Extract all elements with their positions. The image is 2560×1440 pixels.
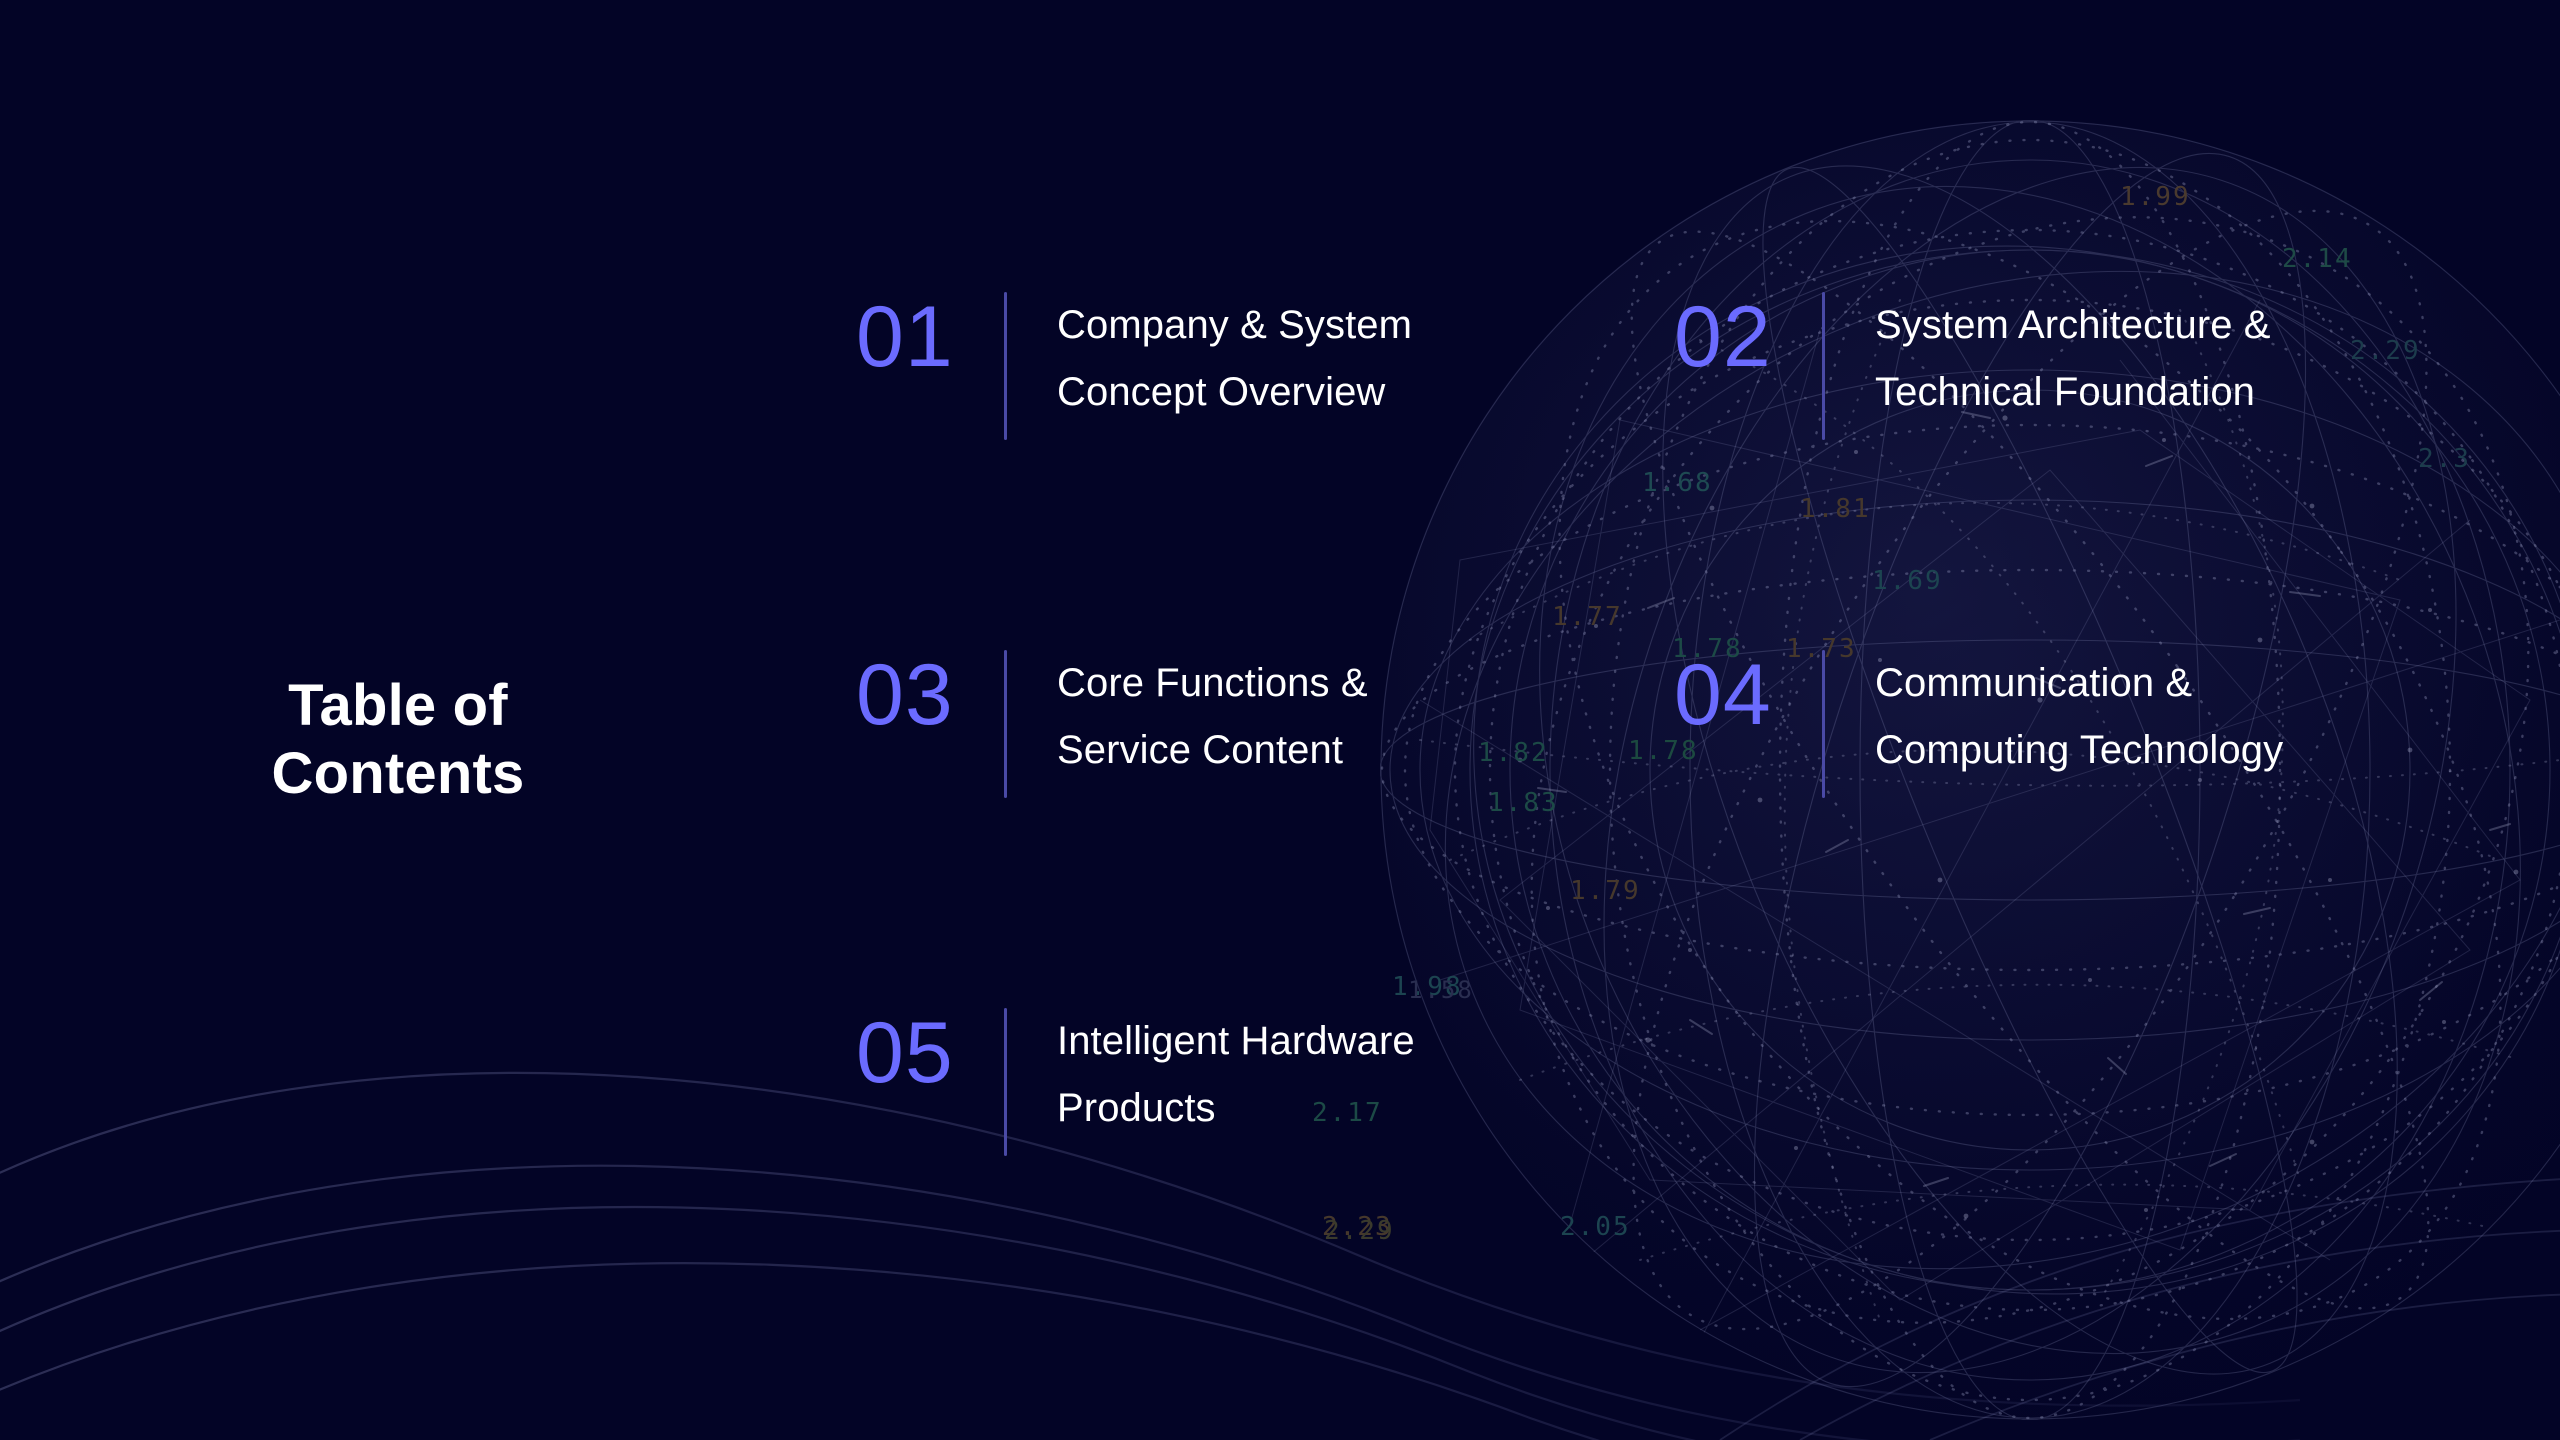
- toc-item-title-line-1: Intelligent Hardware: [1057, 1008, 1415, 1075]
- toc-slide: 1.992.142.292.31.681.811.691.771.781.731…: [0, 0, 2560, 1440]
- toc-item-title: Intelligent Hardware Products: [1057, 1006, 1415, 1142]
- toc-item-title-line-1: Communication &: [1875, 650, 2283, 717]
- toc-item-divider: [1004, 1008, 1007, 1156]
- toc-item-number: 03: [856, 648, 1004, 738]
- toc-item-number: 01: [856, 290, 1004, 380]
- background-float-number: 2.29: [1324, 1216, 1395, 1246]
- page-title-line-1: Table of: [188, 672, 608, 740]
- toc-item-divider: [1822, 292, 1825, 440]
- toc-item-title: Communication & Computing Technology: [1875, 648, 2283, 784]
- toc-item-number: 02: [1674, 290, 1822, 380]
- toc-row-1: 01 Company & System Concept Overview 02 …: [856, 290, 2476, 440]
- page-title: Table of Contents: [188, 672, 608, 809]
- toc-item-03[interactable]: 03 Core Functions & Service Content: [856, 648, 1674, 798]
- toc-item-02[interactable]: 02 System Architecture & Technical Found…: [1674, 290, 2474, 440]
- toc-item-divider: [1004, 292, 1007, 440]
- toc-item-title-line-2: Products: [1057, 1075, 1415, 1142]
- toc-item-title-line-1: System Architecture &: [1875, 292, 2271, 359]
- toc-item-title-line-2: Concept Overview: [1057, 359, 1412, 426]
- toc-item-number: 05: [856, 1006, 1004, 1096]
- toc-row-3: 05 Intelligent Hardware Products: [856, 1006, 2476, 1156]
- toc-item-divider: [1822, 650, 1825, 798]
- toc-item-title: Company & System Concept Overview: [1057, 290, 1412, 426]
- toc-items: 01 Company & System Concept Overview 02 …: [856, 290, 2476, 1156]
- page-title-line-2: Contents: [188, 740, 608, 808]
- background-float-number: 1.99: [2120, 182, 2191, 212]
- toc-row-2: 03 Core Functions & Service Content 04 C…: [856, 648, 2476, 798]
- toc-item-title-line-2: Technical Foundation: [1875, 359, 2271, 426]
- toc-item-05[interactable]: 05 Intelligent Hardware Products: [856, 1006, 1674, 1156]
- toc-item-number: 04: [1674, 648, 1822, 738]
- toc-item-title-line-1: Core Functions &: [1057, 650, 1368, 717]
- background-float-number: 2.05: [1560, 1212, 1631, 1242]
- toc-item-title-line-2: Service Content: [1057, 717, 1368, 784]
- toc-item-title-line-1: Company & System: [1057, 292, 1412, 359]
- background-float-number: 2.14: [2282, 244, 2353, 274]
- toc-item-04[interactable]: 04 Communication & Computing Technology: [1674, 648, 2474, 798]
- toc-item-title: System Architecture & Technical Foundati…: [1875, 290, 2271, 426]
- toc-item-title: Core Functions & Service Content: [1057, 648, 1368, 784]
- toc-item-placeholder: [1674, 1006, 2474, 1156]
- toc-item-divider: [1004, 650, 1007, 798]
- toc-item-title-line-2: Computing Technology: [1875, 717, 2283, 784]
- wave-lines-right: [1720, 1178, 2560, 1440]
- toc-item-01[interactable]: 01 Company & System Concept Overview: [856, 290, 1674, 440]
